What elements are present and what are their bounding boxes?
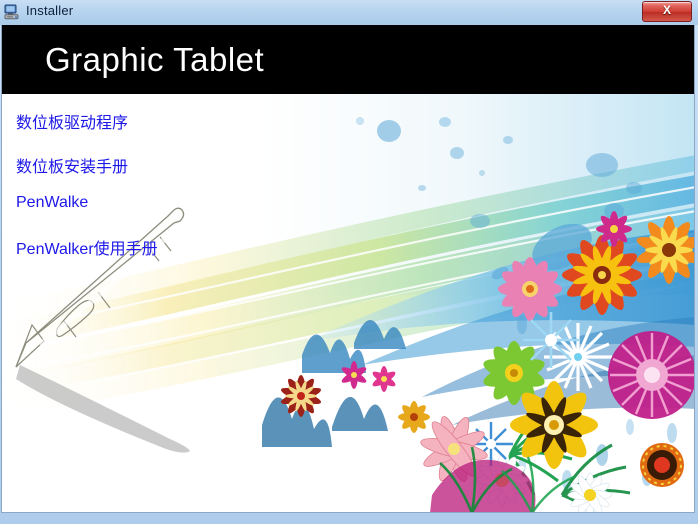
link-penwalker-manual[interactable]: PenWalker使用手册 — [16, 235, 158, 259]
installer-window: Installer X — [0, 0, 698, 524]
page-title: Graphic Tablet — [45, 41, 264, 79]
link-tablet-install-manual[interactable]: 数位板安装手册 — [16, 153, 128, 177]
window-title: Installer — [26, 3, 73, 18]
background-artwork — [2, 25, 695, 513]
installer-client-area: Graphic Tablet 数位板驱动程序 数位板安装手册 PenWalke … — [1, 25, 695, 513]
close-icon: X — [643, 2, 691, 19]
link-penwalke[interactable]: PenWalke — [16, 194, 88, 212]
title-bar: Installer X — [0, 0, 698, 25]
close-button[interactable]: X — [642, 1, 692, 22]
installer-computer-icon — [4, 4, 21, 20]
link-tablet-driver[interactable]: 数位板驱动程序 — [16, 109, 128, 133]
app-banner: Graphic Tablet — [2, 25, 695, 94]
